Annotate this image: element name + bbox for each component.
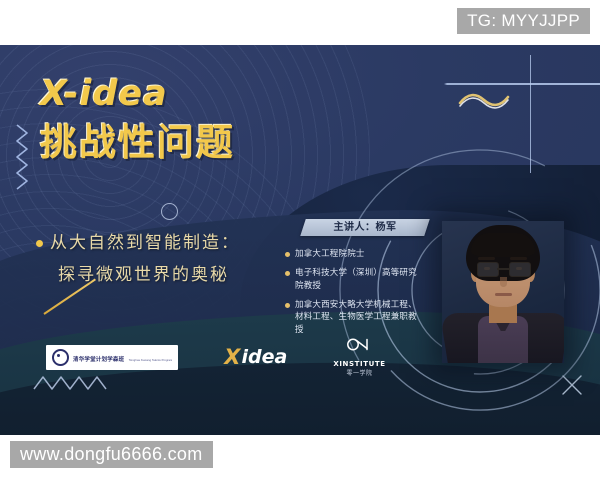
poster-image: X-idea 挑战性问题 从大自然到智能制造： 探寻微观世界的奥秘 主讲人：杨军… bbox=[0, 45, 600, 435]
xinstitute-name-cn: 零一学院 bbox=[333, 371, 385, 377]
subtitle-line-2: 探寻微观世界的奥秘 bbox=[36, 259, 240, 291]
speaker-portrait-photo bbox=[442, 221, 564, 363]
xinstitute-name-en: XINSTITUTE bbox=[333, 360, 385, 368]
watermark-top-right: TG: MYYJJPP bbox=[457, 8, 590, 34]
portrait-eyebrow-left bbox=[478, 257, 495, 260]
xidea-wordmark: idea bbox=[242, 348, 288, 367]
portrait-fringe bbox=[471, 233, 535, 257]
bullet-dot-icon bbox=[285, 271, 290, 276]
vertical-rule-decoration bbox=[530, 55, 532, 173]
list-item: 加拿大西安大略大学机械工程、材料工程、生物医学工程兼职教授 bbox=[285, 299, 417, 336]
speaker-credentials-list: 加拿大工程院院士 电子科技大学（深圳）高等研究院教授 加拿大西安大略大学机械工程… bbox=[285, 248, 417, 343]
subtitle-line-1: 从大自然到智能制造： bbox=[36, 227, 240, 259]
tsinghua-logo-text: 清华学堂计划学森班 Tsinghua Xuetang Talents Progr… bbox=[73, 349, 172, 366]
list-item: 电子科技大学（深圳）高等研究院教授 bbox=[285, 267, 417, 292]
xinstitute-mark-icon bbox=[346, 337, 372, 352]
portrait-eyeglass-right bbox=[509, 262, 531, 277]
portrait-nose bbox=[500, 277, 507, 287]
watermark-bottom-left: www.dongfu6666.com bbox=[10, 441, 213, 468]
portrait-eyebrow-right bbox=[510, 257, 527, 260]
bullet-dot-icon bbox=[36, 240, 43, 247]
sponsor-logos-row: 清华学堂计划学森班 Tsinghua Xuetang Talents Progr… bbox=[46, 337, 386, 377]
title-chinese: 挑战性问题 bbox=[40, 124, 235, 161]
xidea-x-mark-icon: X bbox=[224, 347, 240, 368]
list-item: 加拿大工程院院士 bbox=[285, 248, 417, 260]
poster-subtitle: 从大自然到智能制造： 探寻微观世界的奥秘 bbox=[36, 227, 240, 292]
logo-tsinghua: 清华学堂计划学森班 Tsinghua Xuetang Talents Progr… bbox=[46, 345, 178, 370]
poster-title-block: X-idea 挑战性问题 bbox=[40, 77, 235, 161]
title-english: X-idea bbox=[40, 77, 235, 112]
portrait-eyeglass-left bbox=[477, 262, 499, 277]
credential-text: 加拿大西安大略大学机械工程、材料工程、生物医学工程兼职教授 bbox=[295, 299, 417, 336]
vertical-zigzag-icon bbox=[14, 123, 30, 195]
subtitle-line-1-text: 从大自然到智能制造： bbox=[50, 227, 240, 259]
portrait-mouth bbox=[495, 293, 512, 296]
bullet-dot-icon bbox=[285, 252, 290, 257]
logo-xinstitute: XINSTITUTE 零一学院 bbox=[333, 337, 385, 377]
portrait-eyeglass-bridge bbox=[497, 268, 509, 270]
gold-wave-icon bbox=[458, 91, 510, 109]
tsinghua-name-en: Tsinghua Xuetang Talents Program bbox=[129, 359, 173, 362]
bullet-dot-icon bbox=[285, 303, 290, 308]
credential-text: 加拿大工程院院士 bbox=[295, 248, 365, 260]
logo-xidea: X idea bbox=[224, 347, 287, 368]
subtitle-line-2-text: 探寻微观世界的奥秘 bbox=[58, 259, 229, 291]
tsinghua-emblem-icon bbox=[52, 349, 69, 366]
credential-text: 电子科技大学（深圳）高等研究院教授 bbox=[295, 267, 417, 292]
speaker-name-label: 主讲人：杨军 bbox=[303, 219, 427, 236]
circle-outline-decoration bbox=[161, 203, 178, 220]
tsinghua-name-cn: 清华学堂计划学森班 bbox=[73, 357, 124, 363]
speaker-name-banner: 主讲人：杨军 bbox=[300, 219, 430, 236]
